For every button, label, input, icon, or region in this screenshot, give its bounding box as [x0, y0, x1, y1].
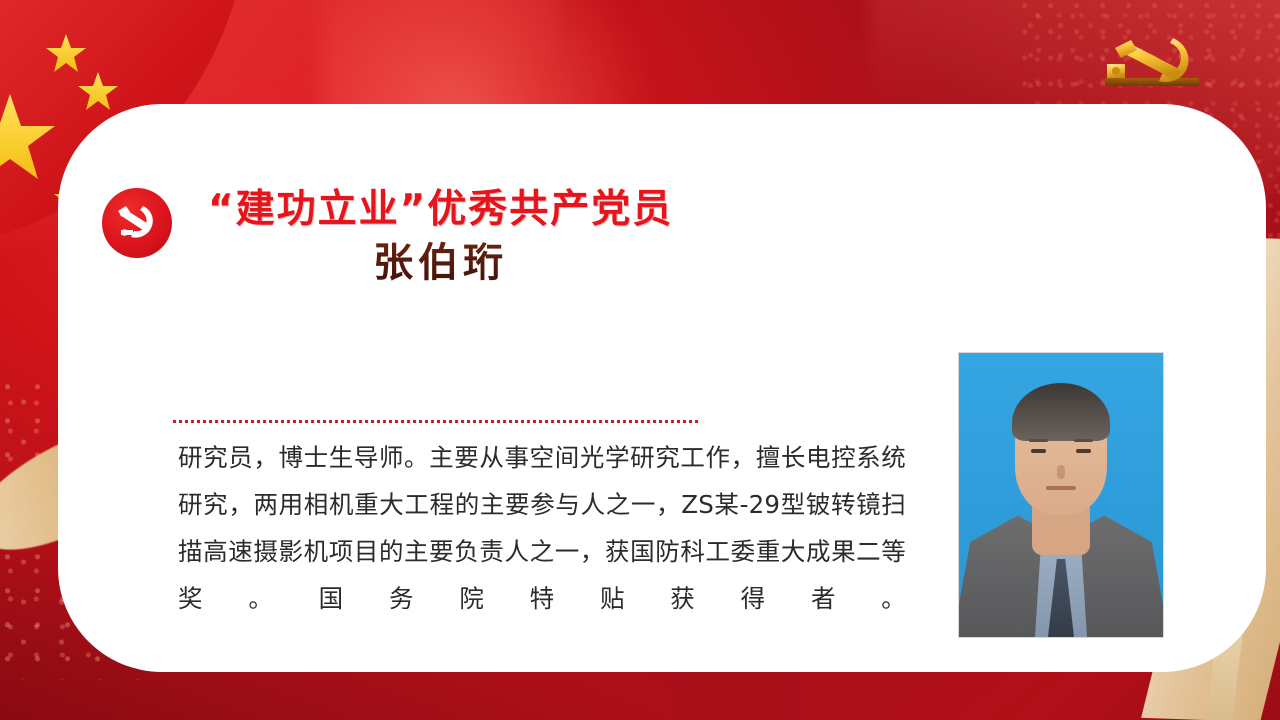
portrait-eye-right [1076, 449, 1091, 453]
page-title: “建功立业”优秀共产党员 [208, 188, 673, 233]
header-row: “建功立业”优秀共产党员 张伯珩 [102, 188, 673, 287]
content-card: “建功立业”优秀共产党员 张伯珩 研究员，博士生导师。主要从事空间光学研究工作，… [58, 104, 1266, 672]
person-name: 张伯珩 [208, 239, 673, 287]
biography-text: 研究员，博士生导师。主要从事空间光学研究工作，擅长电控系统研究，两用相机重大工程… [178, 434, 906, 622]
portrait-eye-left [1031, 449, 1046, 453]
portrait-brow-left [1029, 439, 1048, 442]
party-emblem-hammer-sickle-icon [102, 188, 172, 258]
dotted-divider [173, 420, 701, 423]
portrait-brow-right [1074, 439, 1093, 442]
slide-root: “建功立业”优秀共产党员 张伯珩 研究员，博士生导师。主要从事空间光学研究工作，… [0, 0, 1280, 720]
cpc-emblem-gold-icon [1098, 28, 1210, 102]
avatar [959, 353, 1163, 637]
portrait-nose [1057, 465, 1065, 479]
portrait-mouth [1046, 486, 1076, 490]
title-block: “建功立业”优秀共产党员 张伯珩 [208, 188, 673, 287]
